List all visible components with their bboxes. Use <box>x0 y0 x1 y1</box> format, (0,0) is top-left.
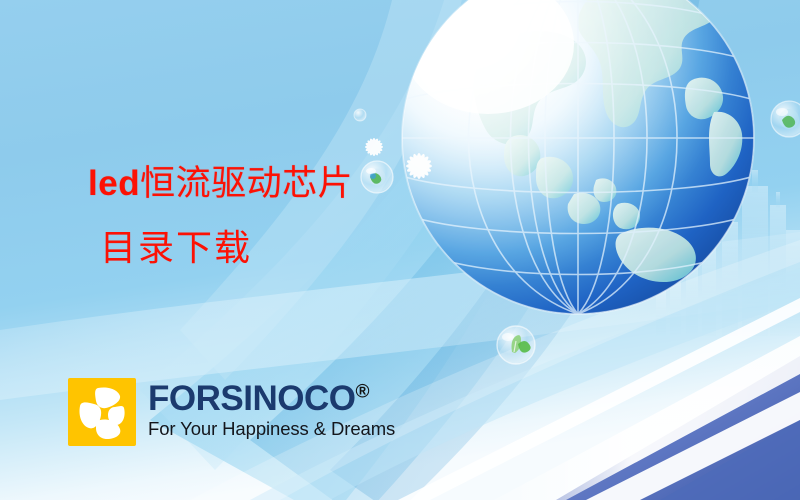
pinwheel-flower-mark <box>68 378 136 446</box>
headline-line-1: led恒流驱动芯片 <box>88 166 353 201</box>
logo-text-block: FORSINOCO® For Your Happiness & Dreams <box>148 378 395 439</box>
headline-cjk: 恒流驱动芯片 <box>140 164 353 203</box>
brand-tagline: For Your Happiness & Dreams <box>148 420 395 439</box>
headline-latin: led <box>88 164 140 203</box>
promo-banner: led恒流驱动芯片 目录下载 FORSINOCO® For Yo <box>0 0 800 500</box>
brand-name-text: FORSINOCO <box>148 379 355 418</box>
brand-logo: FORSINOCO® For Your Happiness & Dreams <box>68 378 395 446</box>
brand-name: FORSINOCO® <box>148 381 395 416</box>
headline-line-2: 目录下载 <box>100 230 252 266</box>
registered-trademark-icon: ® <box>355 381 369 402</box>
